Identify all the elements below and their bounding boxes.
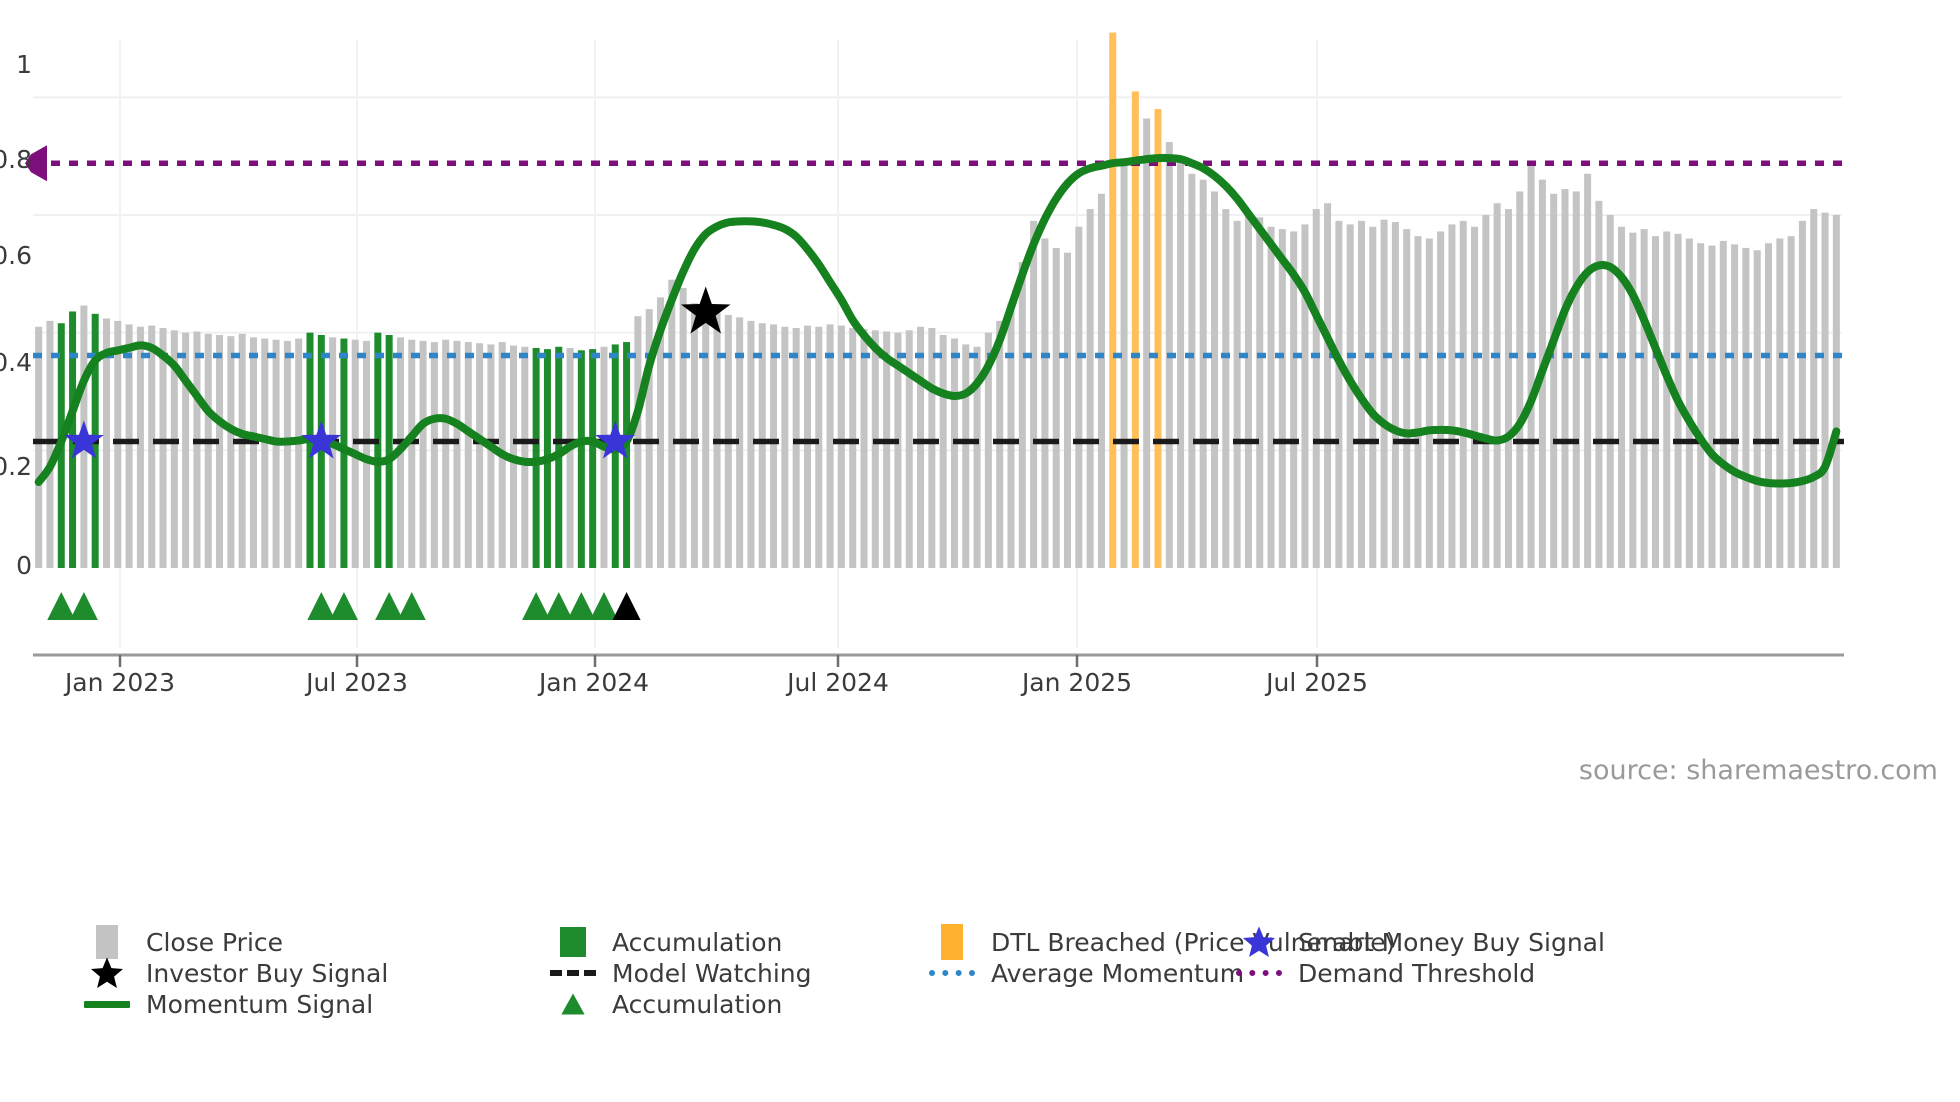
chart-page: 1 0.8 0.6 0.4 0.2 0 4 3 2 1 0 Jan 2023 J… (0, 0, 1960, 1102)
legend-label-investor-buy: Investor Buy Signal (146, 961, 388, 986)
legend-item-demand-threshold[interactable]: Demand Threshold (1236, 956, 1535, 990)
model-watching-dash-icon (550, 956, 596, 990)
dtl-breached-swatch-icon (929, 925, 975, 959)
x-axis-tick-jul-2024: Jul 2024 (738, 668, 938, 697)
legend-item-model-watching[interactable]: Model Watching (550, 956, 812, 990)
left-axis-tick-0.4: 0.4 (0, 348, 32, 377)
legend-item-average-momentum[interactable]: Average Momentum (929, 956, 1244, 990)
momentum-signal-line-icon (84, 987, 130, 1021)
left-axis-tick-0.8: 0.8 (0, 145, 32, 174)
legend-label-demand-threshold: Demand Threshold (1298, 961, 1535, 986)
source-attribution: source: sharemaestro.com (1579, 755, 1938, 786)
accumulation-triangle-icon (550, 987, 596, 1021)
x-axis-tick-jan-2023: Jan 2023 (20, 668, 220, 697)
legend-label-average-momentum: Average Momentum (991, 961, 1244, 986)
investor-buy-star-icon (84, 956, 130, 990)
x-axis-tick-jan-2024: Jan 2024 (494, 668, 694, 697)
x-axis-tick-jul-2023: Jul 2023 (257, 668, 457, 697)
x-axis-tick-jul-2025: Jul 2025 (1217, 668, 1417, 697)
demand-threshold-dot-icon (1236, 956, 1282, 990)
legend-label-smart-money-buy: Smart Money Buy Signal (1298, 930, 1605, 955)
left-axis-tick-0.2: 0.2 (0, 452, 32, 481)
average-momentum-dot-icon (929, 956, 975, 990)
left-axis-tick-0: 0 (0, 551, 32, 580)
legend-label-close-price: Close Price (146, 930, 283, 955)
accumulation-swatch-icon (550, 925, 596, 959)
legend-item-smart-money-buy[interactable]: Smart Money Buy Signal (1236, 925, 1605, 959)
close-price-swatch-icon (84, 925, 130, 959)
legend-item-close-price[interactable]: Close Price (84, 925, 283, 959)
legend-label-accumulation-bar: Accumulation (612, 930, 782, 955)
x-axis-tick-jan-2025: Jan 2025 (977, 668, 1177, 697)
legend-label-accumulation-marker: Accumulation (612, 992, 782, 1017)
chart-legend: Close Price Accumulation DTL Breached (P… (84, 925, 1884, 1085)
left-axis-tick-0.6: 0.6 (0, 241, 32, 270)
legend-item-accumulation-bar[interactable]: Accumulation (550, 925, 782, 959)
left-axis-tick-1: 1 (0, 50, 32, 79)
legend-label-momentum-signal: Momentum Signal (146, 992, 373, 1017)
legend-item-momentum-signal[interactable]: Momentum Signal (84, 987, 373, 1021)
legend-label-model-watching: Model Watching (612, 961, 812, 986)
smart-money-star-icon (1236, 925, 1282, 959)
legend-item-accumulation-marker[interactable]: Accumulation (550, 987, 782, 1021)
legend-item-investor-buy[interactable]: Investor Buy Signal (84, 956, 388, 990)
